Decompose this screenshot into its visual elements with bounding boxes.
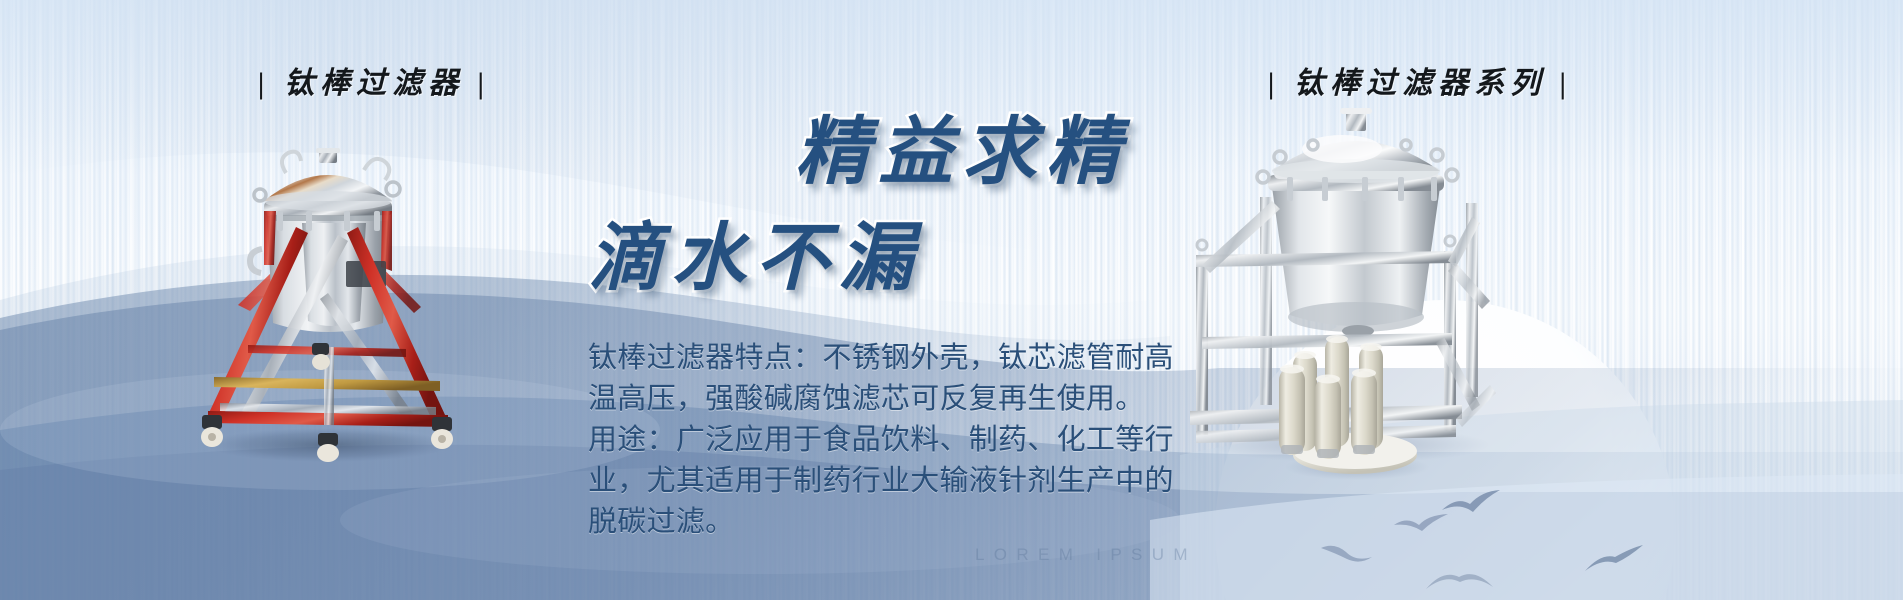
description-line: 脱碳过滤。 [588,502,1208,543]
bird-icon [1585,545,1645,573]
watermark-text: LOREM IPSUM [975,545,1197,565]
description-line: 温高压，强酸碱腐蚀滤芯可反复再生使用。 [588,379,1208,420]
product-banner: | 钛棒过滤器 | | 钛棒过滤器系列 | 精益求精 滴水不漏 钛棒过滤器特点：… [0,0,1903,600]
bird-icon [1320,540,1382,566]
description-line: 钛棒过滤器特点：不锈钢外壳，钛芯滤管耐高 [588,338,1208,379]
description-line: 业，尤其适用于制药行业大输液针剂生产中的 [588,461,1208,502]
right-section-title: | 钛棒过滤器系列 | [1268,58,1572,102]
bird-icon [1440,490,1502,520]
description-line: 用途：广泛应用于食品饮料、制药、化工等行 [588,420,1208,461]
slogan-line-1: 精益求精 [795,92,1129,199]
bird-icon [1425,565,1495,591]
filter-cartridges-image [1265,315,1445,480]
bird-icon [1392,512,1452,540]
product-description: 钛棒过滤器特点：不锈钢外壳，钛芯滤管耐高 温高压，强酸碱腐蚀滤芯可反复再生使用。… [588,338,1208,543]
left-section-title: | 钛棒过滤器 | [258,58,490,102]
slogan-line-2: 滴水不漏 [588,198,922,305]
left-product-image [178,115,478,460]
